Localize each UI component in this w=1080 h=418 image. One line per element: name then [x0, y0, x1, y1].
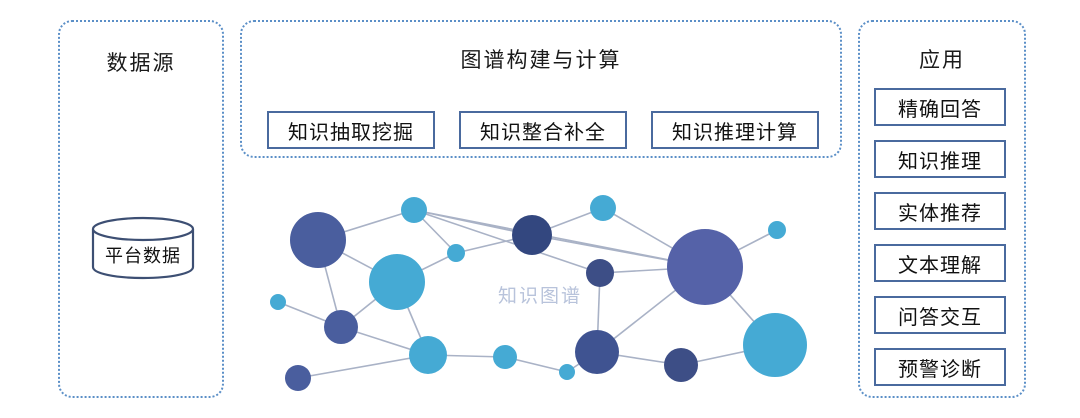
knowledge-graph-nodes: [270, 195, 807, 391]
graph-node: [667, 229, 743, 305]
graph-node: [324, 310, 358, 344]
graph-node: [768, 221, 786, 239]
graph-node: [493, 345, 517, 369]
graph-build-title: 图谱构建与计算: [242, 44, 840, 74]
knowledge-graph-illustration: 知识图谱: [260, 185, 820, 400]
application-box-precise-answer[interactable]: 精确回答: [874, 88, 1006, 126]
application-box-entity-recommendation[interactable]: 实体推荐: [874, 192, 1006, 230]
graph-node: [743, 313, 807, 377]
application-box-text-understanding[interactable]: 文本理解: [874, 244, 1006, 282]
graph-node: [447, 244, 465, 262]
database-cylinder-icon: 平台数据: [90, 216, 196, 280]
database-label: 平台数据: [90, 242, 196, 268]
graph-node: [559, 364, 575, 380]
graph-node: [290, 212, 346, 268]
graph-build-panel: 图谱构建与计算 知识抽取挖掘 知识整合补全 知识推理计算: [240, 20, 842, 158]
graph-node: [512, 215, 552, 255]
graph-node: [369, 254, 425, 310]
application-box-knowledge-reasoning[interactable]: 知识推理: [874, 140, 1006, 178]
data-source-title: 数据源: [60, 47, 222, 77]
data-source-panel: 数据源 平台数据: [58, 20, 224, 398]
applications-title: 应用: [860, 44, 1024, 74]
graph-node: [590, 195, 616, 221]
graph-node: [401, 197, 427, 223]
process-box-knowledge-extraction[interactable]: 知识抽取挖掘: [267, 111, 435, 149]
graph-node: [270, 294, 286, 310]
application-box-alert-diagnosis[interactable]: 预警诊断: [874, 348, 1006, 386]
graph-node: [409, 336, 447, 374]
graph-node: [664, 348, 698, 382]
graph-node: [586, 259, 614, 287]
graph-node: [575, 330, 619, 374]
process-box-knowledge-integration[interactable]: 知识整合补全: [459, 111, 627, 149]
application-box-qa-interaction[interactable]: 问答交互: [874, 296, 1006, 334]
process-box-knowledge-reasoning[interactable]: 知识推理计算: [651, 111, 819, 149]
graph-edge: [298, 355, 428, 378]
graph-node: [285, 365, 311, 391]
applications-panel: 应用 精确回答 知识推理 实体推荐 文本理解 问答交互 预警诊断: [858, 20, 1026, 398]
